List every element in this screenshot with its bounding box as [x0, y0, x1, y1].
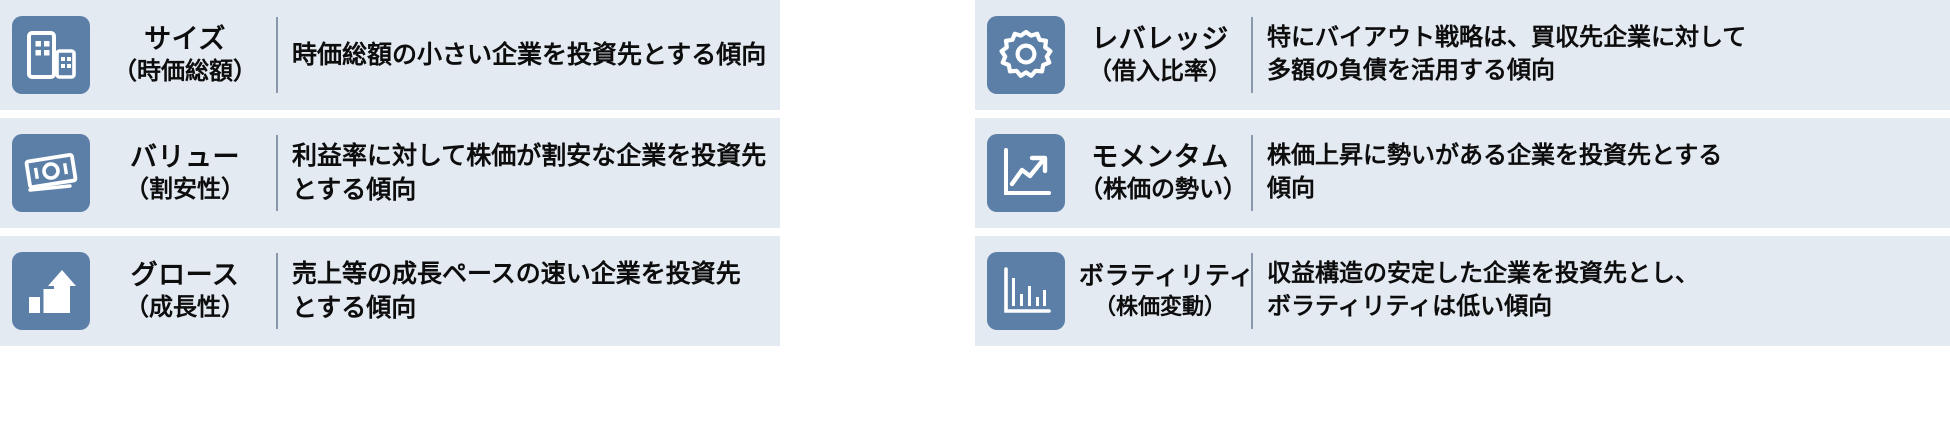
- factor-title-sub: （割安性）: [104, 176, 266, 204]
- factor-title-main: サイズ: [104, 24, 266, 56]
- factor-title-sub: （株価の勢い）: [1079, 176, 1241, 204]
- volatility-chart-icon: [987, 252, 1065, 330]
- factor-title-main: バリュー: [104, 142, 266, 174]
- factor-title-sub: （時価総額）: [104, 58, 266, 86]
- factor-description-value: 利益率に対して株価が割安な企業を投資先 とする傾向: [292, 139, 770, 207]
- factor-card-size: サイズ （時価総額） 時価総額の小さい企業を投資先とする傾向: [0, 0, 780, 110]
- card-divider: [1251, 253, 1253, 329]
- trending-up-icon: [987, 134, 1065, 212]
- card-divider: [276, 253, 278, 329]
- factor-card-value: バリュー （割安性） 利益率に対して株価が割安な企業を投資先 とする傾向: [0, 118, 780, 228]
- factor-title-main: レバレッジ: [1079, 24, 1241, 56]
- factor-description-size: 時価総額の小さい企業を投資先とする傾向: [292, 38, 770, 72]
- factor-card-volatility: ボラティリティ （株価変動） 収益構造の安定した企業を投資先とし、 ボラティリテ…: [975, 236, 1950, 346]
- factor-title-sub: （借入比率）: [1079, 58, 1241, 86]
- bar-chart-arrow-up-icon: [12, 252, 90, 330]
- card-divider: [1251, 135, 1253, 211]
- card-divider: [1251, 17, 1253, 93]
- factor-description-volatility: 収益構造の安定した企業を投資先とし、 ボラティリティは低い傾向: [1267, 258, 1940, 323]
- factor-title-momentum: モメンタム （株価の勢い）: [1079, 142, 1247, 204]
- card-divider: [276, 17, 278, 93]
- factor-title-value: バリュー （割安性）: [104, 142, 272, 204]
- factor-title-sub: （成長性）: [104, 294, 266, 322]
- factor-title-volatility: ボラティリティ （株価変動）: [1079, 262, 1247, 319]
- factor-description-growth: 売上等の成長ペースの速い企業を投資先 とする傾向: [292, 257, 770, 325]
- buildings-icon: [12, 16, 90, 94]
- factor-title-main: モメンタム: [1079, 142, 1241, 174]
- factor-title-growth: グロース （成長性）: [104, 260, 272, 322]
- factor-title-size: サイズ （時価総額）: [104, 24, 272, 86]
- factor-title-main: グロース: [104, 260, 266, 292]
- gear-icon: [987, 16, 1065, 94]
- factor-title-sub: （株価変動）: [1079, 294, 1241, 320]
- factor-title-leverage: レバレッジ （借入比率）: [1079, 24, 1247, 86]
- factor-title-main: ボラティリティ: [1079, 262, 1241, 292]
- banknote-icon: [12, 134, 90, 212]
- factor-description-momentum: 株価上昇に勢いがある企業を投資先とする 傾向: [1267, 140, 1940, 205]
- factor-description-leverage: 特にバイアウト戦略は、買収先企業に対して 多額の負債を活用する傾向: [1267, 22, 1940, 87]
- factor-card-grid: サイズ （時価総額） 時価総額の小さい企業を投資先とする傾向 レバレッジ （借入…: [0, 0, 1950, 422]
- factor-card-momentum: モメンタム （株価の勢い） 株価上昇に勢いがある企業を投資先とする 傾向: [975, 118, 1950, 228]
- factor-card-leverage: レバレッジ （借入比率） 特にバイアウト戦略は、買収先企業に対して 多額の負債を…: [975, 0, 1950, 110]
- factor-card-growth: グロース （成長性） 売上等の成長ペースの速い企業を投資先 とする傾向: [0, 236, 780, 346]
- card-divider: [276, 135, 278, 211]
